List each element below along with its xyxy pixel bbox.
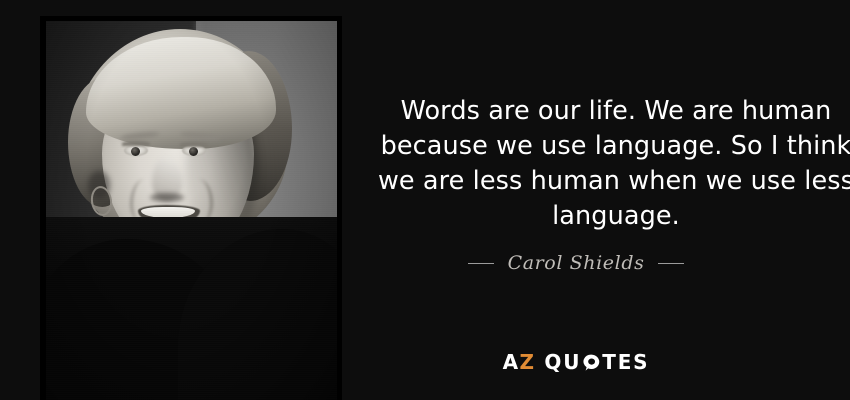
- portrait-eyelid-right: [180, 142, 208, 147]
- attribution: Carol Shields: [302, 252, 850, 274]
- attribution-rule-left: [468, 263, 494, 264]
- logo-letter-z: Z: [520, 350, 536, 374]
- logo-quotes-word: QU TES: [544, 350, 649, 374]
- portrait-pupil-left: [131, 147, 140, 156]
- portrait-nose-shadow: [150, 193, 184, 202]
- portrait-eyelid-left: [122, 141, 150, 146]
- quote-card: Words are our life. We are human because…: [0, 0, 850, 400]
- logo-quotes-prefix: QU: [544, 350, 581, 374]
- azquotes-logo[interactable]: AZ QU TES: [302, 350, 850, 374]
- author-name: Carol Shields: [508, 252, 645, 274]
- attribution-rule-right: [658, 263, 684, 264]
- speech-bubble-icon: [583, 354, 600, 371]
- logo-az-mark: AZ: [503, 350, 536, 374]
- author-portrait: [40, 16, 342, 400]
- quote-panel: Words are our life. We are human because…: [302, 0, 850, 400]
- logo-quotes-suffix: TES: [602, 350, 649, 374]
- quote-text: Words are our life. We are human because…: [366, 94, 850, 234]
- portrait-pupil-right: [189, 147, 198, 156]
- portrait-photo: [46, 21, 337, 400]
- logo-letter-a: A: [503, 350, 520, 374]
